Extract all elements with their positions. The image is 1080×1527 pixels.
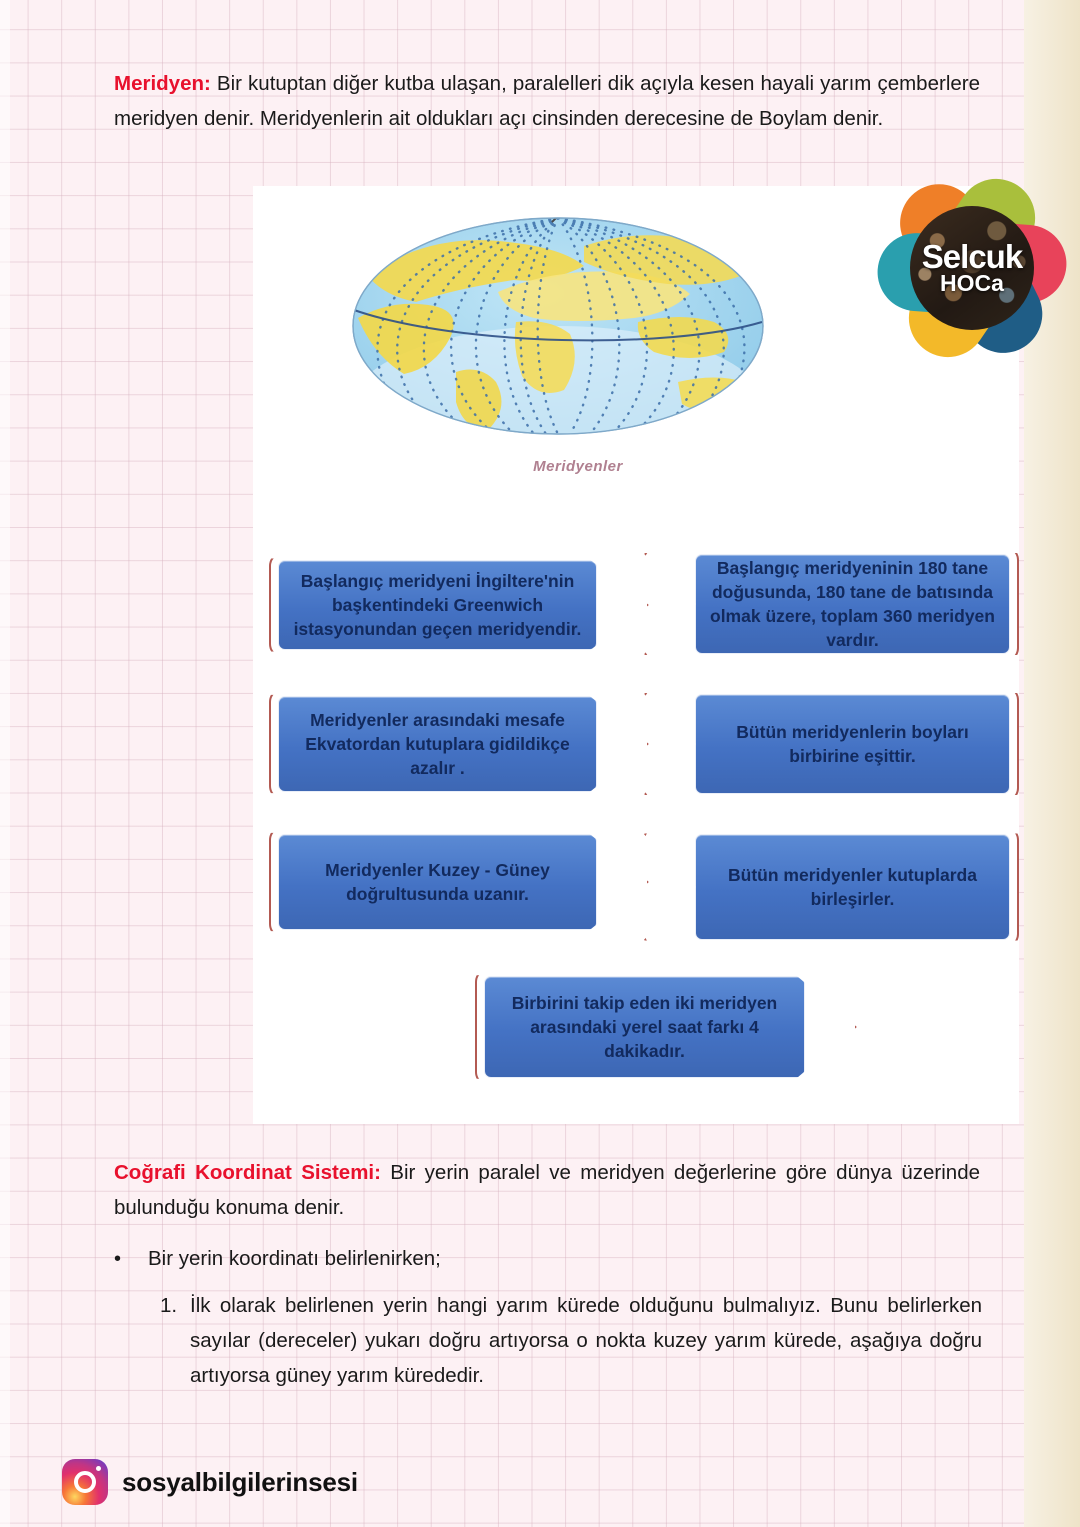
diagram-box-dakika-text: Birbirini takip eden iki meridyen arasın… (484, 976, 805, 1078)
list-item-bullet: • Bir yerin koordinatı belirlenirken; (114, 1243, 980, 1275)
diagram-box-360: Başlangıç meridyeninin 180 tane doğusund… (643, 546, 1019, 662)
instagram-icon-dot (96, 1466, 101, 1471)
diagram-box-kutup-text: Bütün meridyenler kutuplarda birleşirler… (695, 834, 1010, 940)
list-item-numbered: 1. İlk olarak belirlenen yerin hangi yar… (160, 1288, 982, 1393)
selcuk-hoca-logo: Selcuk HOCa (872, 168, 1072, 368)
diagram-box-yon-text: Meridyenler Kuzey - Güney doğrultusunda … (278, 834, 597, 930)
keyword-koordinat: Coğrafi Koordinat Sistemi: (114, 1161, 381, 1184)
page-left-margin (0, 0, 10, 1527)
logo-core: Selcuk HOCa (910, 206, 1034, 330)
paragraph-koordinat: Coğrafi Koordinat Sistemi: Bir yerin par… (114, 1155, 980, 1225)
globe-svg (338, 206, 778, 456)
logo-line1: Selcuk (922, 242, 1022, 272)
instagram-handle: sosyalbilgilerinsesi (122, 1467, 358, 1498)
diagram-box-boylar-text: Bütün meridyenlerin boyları birbirine eş… (695, 694, 1010, 794)
bullet-marker: • (114, 1243, 148, 1275)
paragraph-meridyen-body: Bir kutuptan diğer kutba ulaşan, paralel… (114, 72, 980, 130)
keyword-meridyen: Meridyen: (114, 72, 211, 95)
diagram-box-boylar: Bütün meridyenlerin boyları birbirine eş… (643, 686, 1019, 802)
instagram-icon (62, 1459, 108, 1505)
globe-caption: Meridyenler (478, 458, 678, 475)
bullet-text: Bir yerin koordinatı belirlenirken; (148, 1243, 441, 1275)
diagram-box-yon: Meridyenler Kuzey - Güney doğrultusunda … (269, 826, 649, 938)
ordered-marker: 1. (160, 1288, 190, 1323)
diagram-box-greenwich-text: Başlangıç meridyeni İngiltere'nin başken… (278, 560, 597, 650)
globe-illustration: Meridyenler (338, 206, 778, 496)
ordered-text: İlk olarak belirlenen yerin hangi yarım … (190, 1288, 982, 1393)
diagram-box-mesafe: Meridyenler arasındaki mesafe Ekvatordan… (269, 688, 649, 800)
diagram-box-kutup: Bütün meridyenler kutuplarda birleşirler… (643, 826, 1019, 948)
paragraph-meridyen: Meridyen: Bir kutuptan diğer kutba ulaşa… (114, 66, 980, 136)
logo-line2: HOCa (940, 272, 1004, 295)
diagram-box-360-text: Başlangıç meridyeninin 180 tane doğusund… (695, 554, 1010, 654)
diagram-box-mesafe-text: Meridyenler arasındaki mesafe Ekvatordan… (278, 696, 597, 792)
diagram-box-greenwich: Başlangıç meridyeni İngiltere'nin başken… (269, 552, 649, 658)
instagram-icon-ring (74, 1471, 96, 1493)
diagram-box-dakika: Birbirini takip eden iki meridyen arasın… (475, 968, 857, 1086)
instagram-footer[interactable]: sosyalbilgilerinsesi (62, 1459, 358, 1505)
